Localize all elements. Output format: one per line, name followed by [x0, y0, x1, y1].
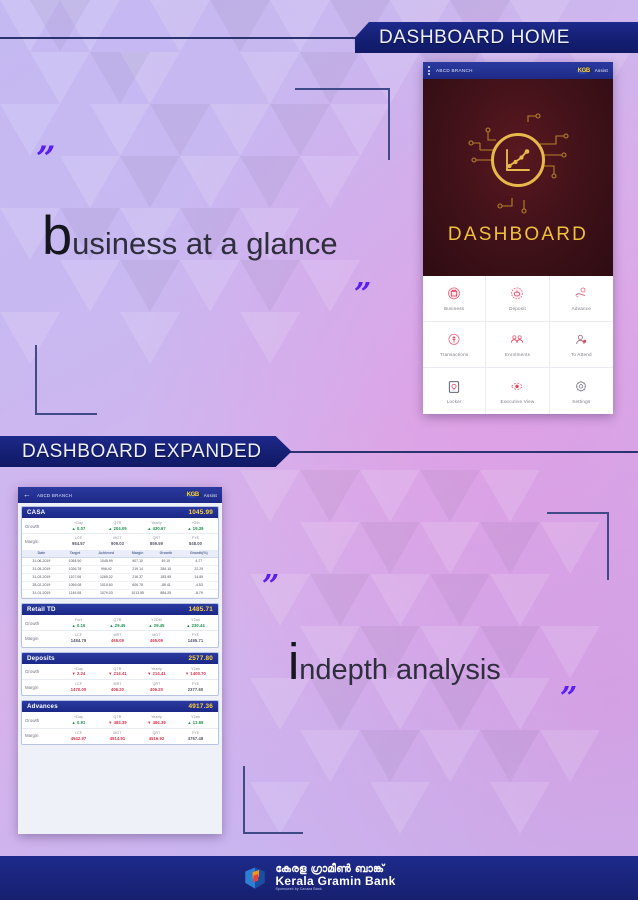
menu-label: Locker: [447, 399, 462, 404]
quote-close-glance: ”: [354, 280, 371, 310]
kgb-logo-text: Assist: [204, 493, 217, 498]
metric-cell: FYE2377.60: [176, 682, 215, 692]
to-attend-icon: [573, 332, 589, 348]
expanded-cards-list: CASA 1045.99 Growth +Day▲ 0.07 QTR▲ 204.…: [18, 503, 222, 748]
expanded-branch-label: ABCD BRANCH: [37, 493, 178, 498]
card-metrics: Growth Fort▲ 0.16 QTR▲ 29.45 Y2DM▲ 29.45…: [22, 615, 218, 647]
menu-item-locker[interactable]: Locker: [423, 368, 486, 414]
col-margin: Margin: [123, 550, 152, 558]
metric-row-margin: Margin LCF1484.79 MRT465.09 MGT465.09 FY…: [22, 631, 218, 645]
table-row: 31-06-20191054.90 1045.99907.10 49.104.7…: [22, 557, 218, 565]
metric-row-label: Growth: [25, 669, 59, 674]
metric-row-label: Growth: [25, 621, 59, 626]
metric-cell: QTR▼ 484.39: [98, 715, 137, 725]
metric-cell: Y2DM▲ 29.45: [137, 618, 176, 628]
metric-cell: MGT465.09: [137, 633, 176, 643]
menu-item-to-attend[interactable]: To Attend: [550, 322, 613, 368]
col-growth-pct: Growth(%): [180, 550, 218, 558]
footer-tagline: Sponsored by Canara Bank: [275, 888, 395, 892]
executive-view-icon: [509, 379, 525, 395]
card-retail-td[interactable]: Retail TD 1485.71 Growth Fort▲ 0.16 QTR▲…: [21, 603, 219, 648]
phone-dashboard-home: ABCD BRANCH KGB Assist: [423, 62, 613, 414]
corner-bracket-right-top: [547, 512, 609, 580]
menu-item-deposit[interactable]: Deposit: [486, 276, 549, 322]
headline-indepth-analysis: indepth analysis: [288, 632, 501, 691]
kgb-logo-text: Assist: [595, 68, 608, 73]
metric-cell: LCF4542.97: [59, 731, 98, 741]
metric-cell: LCF1470.00: [59, 682, 98, 692]
metric-cell: LCF984.57: [59, 536, 98, 546]
metric-cell: MRT406.20: [98, 682, 137, 692]
metric-row-label: Growth: [25, 718, 59, 723]
metric-cell: MGT4514.91: [98, 731, 137, 741]
locker-icon: [446, 379, 462, 395]
metric-cell: +Gth▲ 19.39: [176, 521, 215, 531]
metric-cell: MRT465.09: [98, 633, 137, 643]
menu-label: Enrolments: [505, 352, 530, 357]
card-amount: 4917.36: [188, 703, 213, 710]
metric-row-margin: Margin LCF4542.97 MGT4514.91 QRT4516.92 …: [22, 729, 218, 743]
banner-rule-expanded: [286, 451, 638, 453]
enrolments-icon: [509, 332, 525, 348]
back-arrow-icon[interactable]: ←: [23, 491, 31, 499]
menu-label: Advance: [572, 306, 591, 311]
kgb-logo-mark: KGB: [184, 492, 202, 498]
metric-cell: +Day▼ 2.24: [59, 667, 98, 677]
card-casa[interactable]: CASA 1045.99 Growth +Day▲ 0.07 QTR▲ 204.…: [21, 506, 219, 599]
menu-label: Executive View: [501, 399, 535, 404]
metric-cell: +Day▲ 0.91: [59, 715, 98, 725]
metric-cell: FYE848.00: [176, 536, 215, 546]
metric-row-label: Margin: [25, 539, 59, 544]
metric-cell: MGT909.03: [98, 536, 137, 546]
corner-bracket-mid-left: [243, 766, 303, 834]
metric-cell: Yearly▼ 214.41: [137, 667, 176, 677]
metric-cell: LCF1484.79: [59, 633, 98, 643]
headline-business-at-a-glance: business at a glance: [42, 205, 338, 267]
menu-item-executive-view[interactable]: Executive View: [486, 368, 549, 414]
footer-bar: കേരള ഗ്രാമീണ്‍ ബാങ്ക് Kerala Gramin Bank…: [0, 856, 638, 900]
metric-cell: QRT859.59: [137, 536, 176, 546]
card-deposits[interactable]: Deposits 2577.80 Growth +Day▼ 2.24 QTR▼ …: [21, 652, 219, 697]
menu-item-settings[interactable]: Settings: [550, 368, 613, 414]
metric-cell: QRT406.20: [137, 682, 176, 692]
metric-row-margin: Margin LCF1470.00 MRT406.20 QRT406.20 FY…: [22, 680, 218, 694]
table-header-row: Date Target Achieved Margin Growth Growt…: [22, 550, 218, 558]
col-achieved: Achieved: [89, 550, 123, 558]
settings-gear-icon: [573, 379, 589, 395]
overflow-menu-icon[interactable]: [428, 66, 430, 75]
advance-icon: [573, 286, 589, 302]
metric-row-growth: Growth +Day▲ 0.91 QTR▼ 484.39 Yearly▼ 48…: [22, 713, 218, 728]
banner-rule-home: [0, 37, 360, 39]
metric-cell: Fort▲ 0.16: [59, 618, 98, 628]
phone-dashboard-expanded: ← ABCD BRANCH KGB Assist CASA 1045.99 Gr…: [18, 487, 222, 834]
col-date: Date: [22, 550, 61, 558]
menu-label: Business: [444, 306, 464, 311]
metric-cell: QRT4516.92: [137, 731, 176, 741]
banner-dashboard-home: DASHBOARD HOME: [355, 22, 638, 53]
card-title: CASA: [27, 509, 45, 516]
dashboard-hero: DASHBOARD: [423, 79, 613, 276]
card-amount: 2577.80: [188, 655, 213, 662]
metric-cell: Yearly▲ 430.67: [137, 521, 176, 531]
metric-cell: FYE4757.48: [176, 731, 215, 741]
analytics-circuit-icon: [466, 110, 570, 214]
metric-cell: Yearly▼ 484.39: [137, 715, 176, 725]
kgb-assist-logo: KGB Assist: [184, 492, 217, 498]
card-title: Deposits: [27, 655, 55, 662]
card-amount: 1045.99: [188, 509, 213, 516]
metric-row-margin: Margin LCF984.57 MGT909.03 QRT859.59 FYE…: [22, 534, 218, 548]
metric-row-growth: Growth +Day▼ 2.24 QTR▼ 214.41 Yearly▼ 21…: [22, 665, 218, 680]
card-header: Deposits 2577.80: [22, 653, 218, 664]
banner-home-label: DASHBOARD HOME: [379, 27, 570, 49]
home-appbar: ABCD BRANCH KGB Assist: [423, 62, 613, 79]
col-target: Target: [61, 550, 90, 558]
metric-cell: FYE1495.71: [176, 633, 215, 643]
menu-item-transactions[interactable]: Transactions: [423, 322, 486, 368]
table-row: 31-01-20191149.08 1079.031013.55 884.25-…: [22, 589, 218, 597]
home-branch-label: ABCD BRANCH: [436, 68, 569, 73]
card-metrics: Growth +Day▼ 2.24 QTR▼ 214.41 Yearly▼ 21…: [22, 664, 218, 696]
quote-open-glance: ”: [36, 142, 56, 176]
headline-rest: usiness at a glance: [72, 226, 337, 261]
metric-row-label: Margin: [25, 733, 59, 738]
headline-lead-letter: b: [42, 206, 72, 266]
banner-dashboard-expanded: DASHBOARD EXPANDED: [0, 436, 292, 467]
kgb-assist-logo: KGB Assist: [575, 68, 608, 74]
card-amount: 1485.71: [188, 606, 213, 613]
menu-item-enrolments[interactable]: Enrolments: [486, 322, 549, 368]
metric-row-label: Growth: [25, 524, 59, 529]
metric-cell: +Day▲ 0.07: [59, 521, 98, 531]
dashboard-hero-title: DASHBOARD: [448, 224, 588, 246]
quote-open-indepth: ”: [262, 572, 279, 602]
headline-rest: ndepth analysis: [299, 654, 501, 686]
card-metrics: Growth +Day▲ 0.07 QTR▲ 204.05 Yearly▲ 43…: [22, 518, 218, 550]
card-advances[interactable]: Advances 4917.36 Growth +Day▲ 0.91 QTR▼ …: [21, 700, 219, 745]
table-row: 31-05-20191026.78 996.42219.14 284.1022.…: [22, 565, 218, 573]
kgb-logo-mark: KGB: [575, 68, 593, 74]
metric-cell: QTR▲ 204.05: [98, 521, 137, 531]
table-row: 31-03-20191107.06 1265.02216.37 183.9514…: [22, 573, 218, 581]
deposit-icon: [509, 286, 525, 302]
expanded-appbar: ← ABCD BRANCH KGB Assist: [18, 487, 222, 503]
menu-label: Transactions: [440, 352, 469, 357]
menu-label: To Attend: [571, 352, 592, 357]
menu-item-business[interactable]: Business: [423, 276, 486, 322]
metric-row-growth: Growth +Day▲ 0.07 QTR▲ 204.05 Yearly▲ 43…: [22, 519, 218, 534]
card-header: Advances 4917.36: [22, 701, 218, 712]
casa-detail-table: Date Target Achieved Margin Growth Growt…: [22, 550, 218, 598]
transactions-icon: [446, 332, 462, 348]
menu-item-advance[interactable]: Advance: [550, 276, 613, 322]
metric-row-label: Margin: [25, 685, 59, 690]
dashboard-menu-grid: Business Deposit Advance Transactions: [423, 276, 613, 414]
card-title: Advances: [27, 703, 58, 710]
col-growth: Growth: [152, 550, 180, 558]
quote-close-indepth: ”: [560, 684, 577, 714]
card-header: Retail TD 1485.71: [22, 604, 218, 615]
kerala-gramin-bank-logo: [242, 865, 268, 891]
metric-cell: Y2an▲ 230.44: [176, 618, 215, 628]
corner-bracket-bottom-left: [35, 345, 97, 415]
metric-row-label: Margin: [25, 636, 59, 641]
metric-cell: QTR▼ 214.41: [98, 667, 137, 677]
menu-label: Deposit: [509, 306, 526, 311]
headline-lead-letter: i: [288, 633, 299, 690]
metric-cell: Y2an▼ 1400.70: [176, 667, 215, 677]
card-header: CASA 1045.99: [22, 507, 218, 518]
metric-cell: Y2an▲ 12.68: [176, 715, 215, 725]
metric-cell: QTR▲ 29.45: [98, 618, 137, 628]
card-metrics: Growth +Day▲ 0.91 QTR▼ 484.39 Yearly▼ 48…: [22, 712, 218, 744]
table-row: 28-02-20191059.08 1019.60606.78 -85.41-4…: [22, 581, 218, 589]
metric-row-growth: Growth Fort▲ 0.16 QTR▲ 29.45 Y2DM▲ 29.45…: [22, 616, 218, 631]
corner-bracket-top-right: [295, 88, 390, 160]
footer-bank-name: കേരള ഗ്രാമീണ്‍ ബാങ്ക് Kerala Gramin Bank…: [275, 864, 395, 891]
card-title: Retail TD: [27, 606, 56, 613]
business-icon: [446, 286, 462, 302]
menu-label: Settings: [572, 399, 590, 404]
banner-expanded-label: DASHBOARD EXPANDED: [22, 441, 262, 463]
